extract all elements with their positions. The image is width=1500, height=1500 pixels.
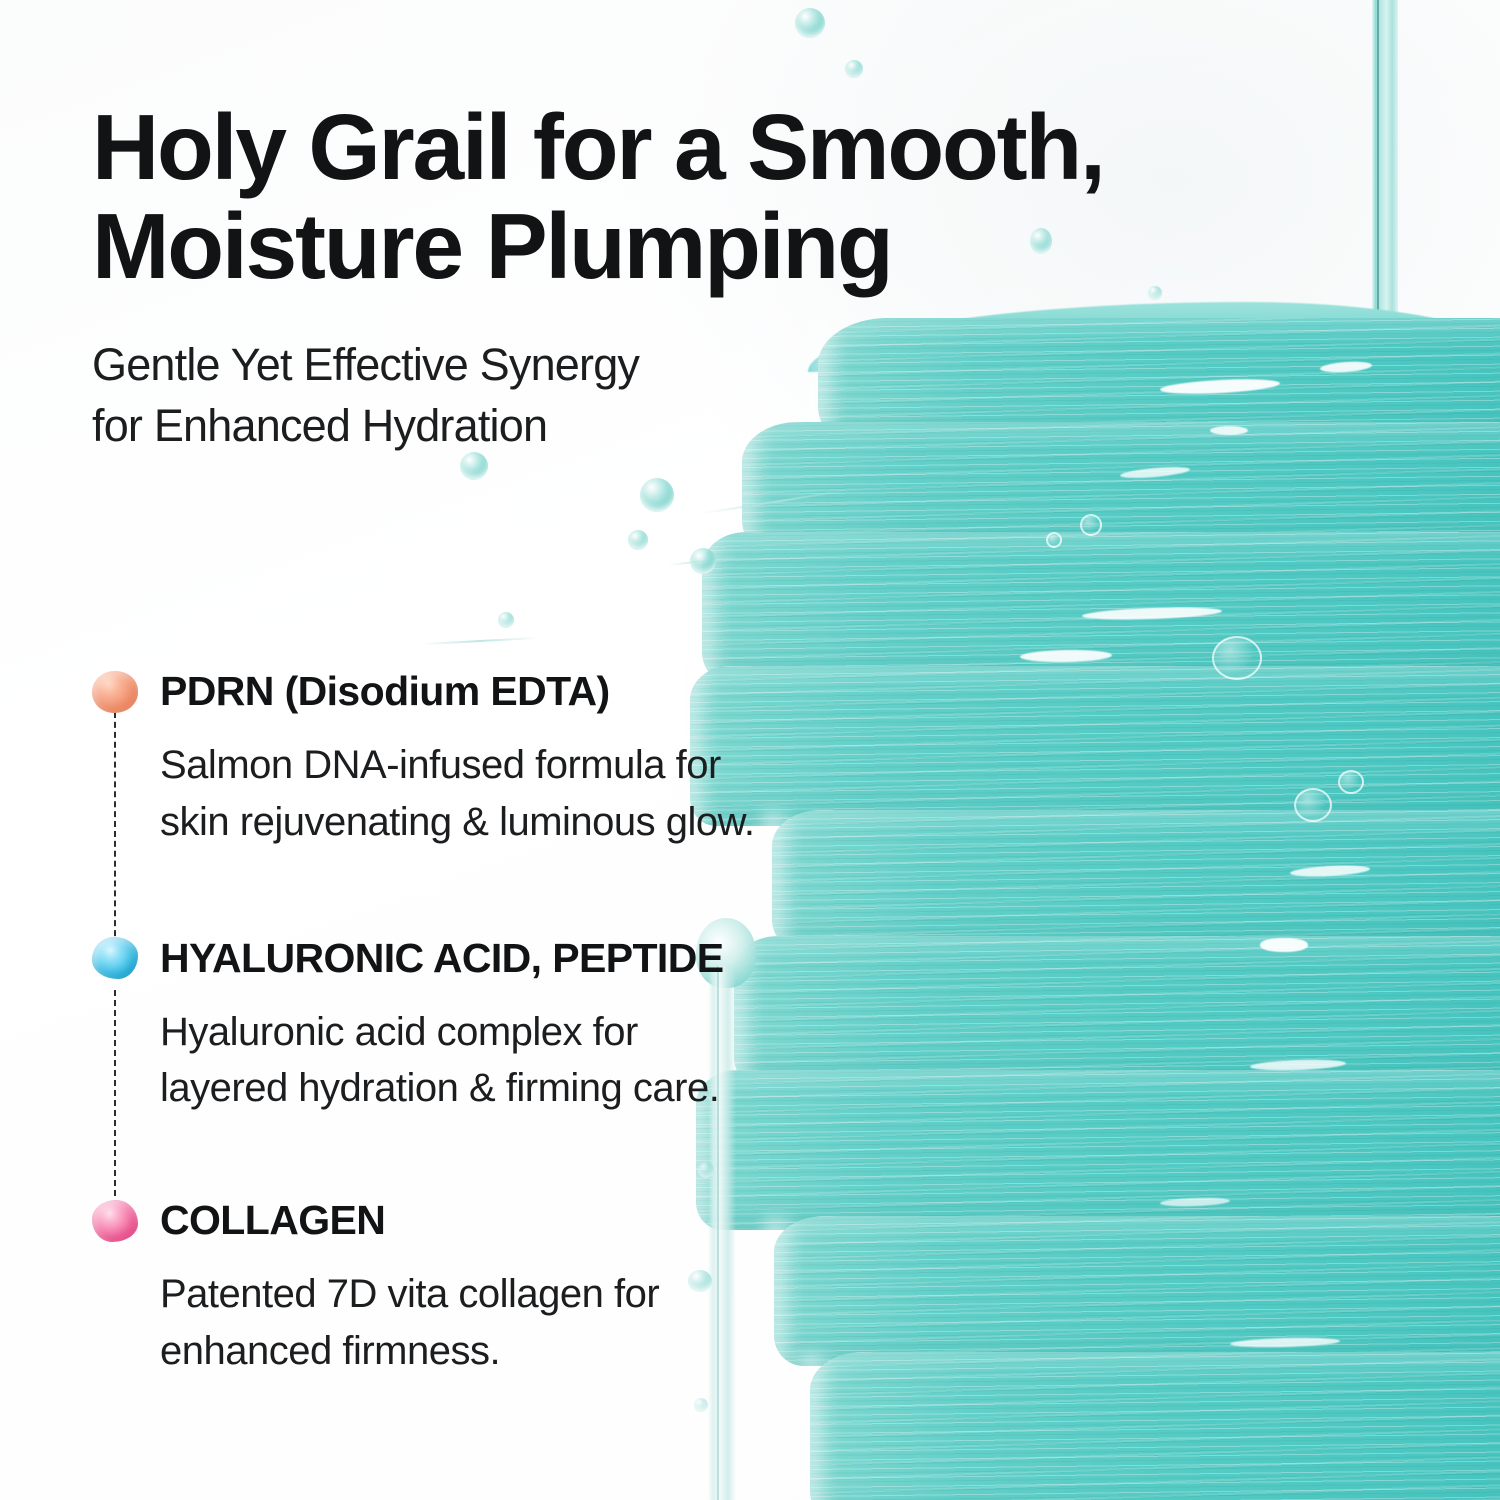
feature-item-collagen: COLLAGEN Patented 7D vita collagen for e… [92,1197,952,1380]
gel-highlight [1120,465,1191,480]
gel-bubble-icon [1046,532,1062,548]
gel-highlight [1260,938,1308,952]
ingredient-feature-list: PDRN (Disodium EDTA) Salmon DNA-infused … [92,668,952,1380]
droplet-trail [701,487,859,514]
gel-slab [702,532,1500,682]
page-title: Holy Grail for a Smooth, Moisture Plumpi… [92,98,1152,295]
pink-blob-icon [92,1200,138,1242]
gel-bubble-icon [1212,636,1262,680]
feature-item-hyaluronic-acid-peptide: HYALURONIC ACID, PEPTIDE Hyaluronic acid… [92,935,952,1118]
gel-highlight [1082,606,1222,622]
feature-description-line-2: layered hydration & firming care. [160,1060,952,1117]
feature-description: Hyaluronic acid complex for layered hydr… [160,1004,952,1118]
coral-sphere-icon [92,671,138,713]
droplet-trail [668,556,738,567]
gel-highlight [1250,1058,1346,1071]
subheadline-line-1: Gentle Yet Effective Synergy [92,334,912,395]
feature-title: HYALURONIC ACID, PEPTIDE [160,935,723,982]
gel-highlight [1160,1197,1230,1207]
gel-highlight [1160,377,1281,396]
headline-line-2: Moisture Plumping [92,197,1152,296]
cyan-droplet-icon [92,937,138,979]
feature-description-line-2: enhanced firmness. [160,1323,952,1380]
gel-highlight [1230,1337,1340,1349]
water-droplet-icon [498,612,514,628]
gel-slab [818,318,1500,446]
feature-heading: PDRN (Disodium EDTA) [92,668,952,715]
feature-description-line-1: Patented 7D vita collagen for [160,1266,952,1323]
feature-heading: COLLAGEN [92,1197,952,1244]
water-droplet-icon [628,530,648,550]
water-droplet-icon [845,60,863,78]
water-droplet-icon [640,478,674,512]
page-subtitle: Gentle Yet Effective Synergy for Enhance… [92,334,912,456]
water-droplet-icon [694,1398,708,1412]
feature-item-pdrn: PDRN (Disodium EDTA) Salmon DNA-infused … [92,668,952,851]
gel-highlight [1210,426,1248,435]
headline-line-1: Holy Grail for a Smooth, [92,98,1152,197]
product-feature-graphic: Holy Grail for a Smooth, Moisture Plumpi… [0,0,1500,1500]
water-droplet-icon [690,548,716,574]
gel-bubble-icon [1080,514,1102,536]
feature-description: Salmon DNA-infused formula for skin reju… [160,737,952,851]
feature-description-line-2: skin rejuvenating & luminous glow. [160,794,952,851]
subheadline-line-2: for Enhanced Hydration [92,395,912,456]
feature-title: COLLAGEN [160,1197,385,1244]
gel-highlight [1290,864,1370,878]
feature-heading: HYALURONIC ACID, PEPTIDE [92,935,952,982]
gel-bubble-icon [1338,770,1364,794]
feature-description: Patented 7D vita collagen for enhanced f… [160,1266,952,1380]
gel-highlight [1320,360,1373,374]
gel-bubble-icon [1294,788,1332,822]
feature-description-line-1: Hyaluronic acid complex for [160,1004,952,1061]
gel-strand-icon [1372,0,1398,360]
gel-highlight [1020,649,1112,663]
droplet-trail [420,637,540,645]
feature-description-line-1: Salmon DNA-infused formula for [160,737,952,794]
water-droplet-icon [795,8,825,38]
feature-title: PDRN (Disodium EDTA) [160,668,610,715]
